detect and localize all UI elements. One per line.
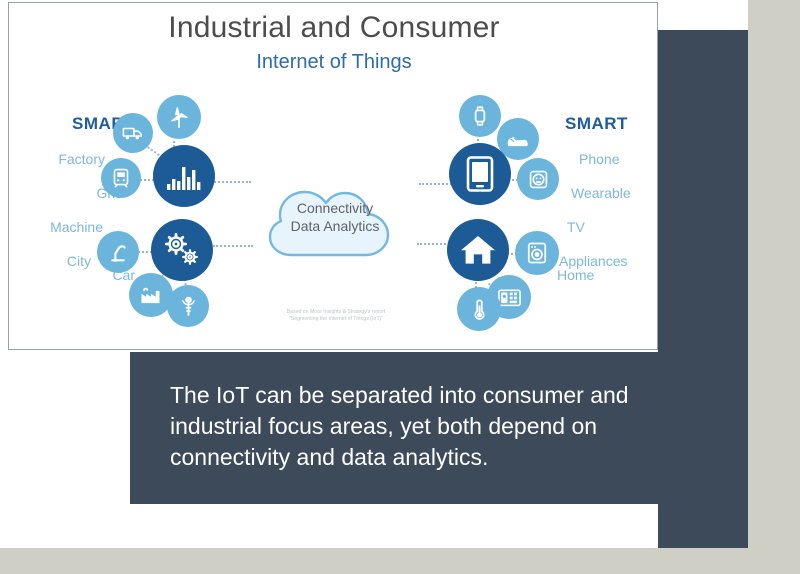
right-label-appliances: Appliances — [559, 254, 658, 268]
background-panel-bottom — [0, 548, 800, 574]
bar-chart-icon[interactable] — [153, 145, 215, 207]
washing-machine-icon[interactable] — [515, 231, 559, 275]
train-icon[interactable] — [101, 158, 141, 198]
truck-icon[interactable] — [113, 113, 153, 153]
gears-icon[interactable] — [151, 219, 213, 281]
right-smart-heading: SMART — [565, 115, 658, 132]
right-label-wearable: Wearable — [571, 186, 658, 200]
left-label-city: City — [15, 254, 91, 268]
connector-hub1-cloud — [211, 181, 251, 183]
thermometer-icon[interactable] — [457, 287, 501, 331]
slide-title: Industrial and Consumer — [9, 11, 658, 45]
wind-turbine-icon[interactable] — [157, 95, 201, 139]
right-label-phone: Phone — [579, 152, 658, 166]
source-line-2: "Segmenting the Internet of Things (IoT)… — [241, 316, 431, 323]
robot-arm-icon[interactable] — [97, 231, 139, 273]
factory-icon[interactable] — [129, 273, 173, 317]
right-label-tv: TV — [567, 220, 658, 234]
caption: The IoT can be separated into consumer a… — [170, 380, 690, 473]
house-icon[interactable] — [447, 219, 509, 281]
tablet-icon[interactable] — [449, 143, 511, 205]
right-label-home: Home — [557, 268, 658, 282]
caduceus-icon[interactable] — [167, 285, 209, 327]
smartwatch-icon[interactable] — [459, 95, 501, 137]
source-attribution: Based on Moor Insights & Strategy's repo… — [241, 309, 431, 323]
left-label-factory: Factory — [15, 152, 105, 166]
power-outlet-icon[interactable] — [517, 158, 559, 200]
connectivity-cloud: Connectivity Data Analytics — [247, 171, 423, 267]
source-line-1: Based on Moor Insights & Strategy's repo… — [241, 309, 431, 316]
right-label-column: SMART Phone Wearable TV Appliances Home — [557, 115, 658, 282]
slide-card: Industrial and Consumer Internet of Thin… — [8, 2, 658, 350]
left-label-machine: Machine — [15, 220, 103, 234]
slide-screenshot: Industrial and Consumer Internet of Thin… — [0, 0, 800, 574]
slide-subtitle: Internet of Things — [9, 51, 658, 74]
background-panel-right — [748, 0, 800, 574]
